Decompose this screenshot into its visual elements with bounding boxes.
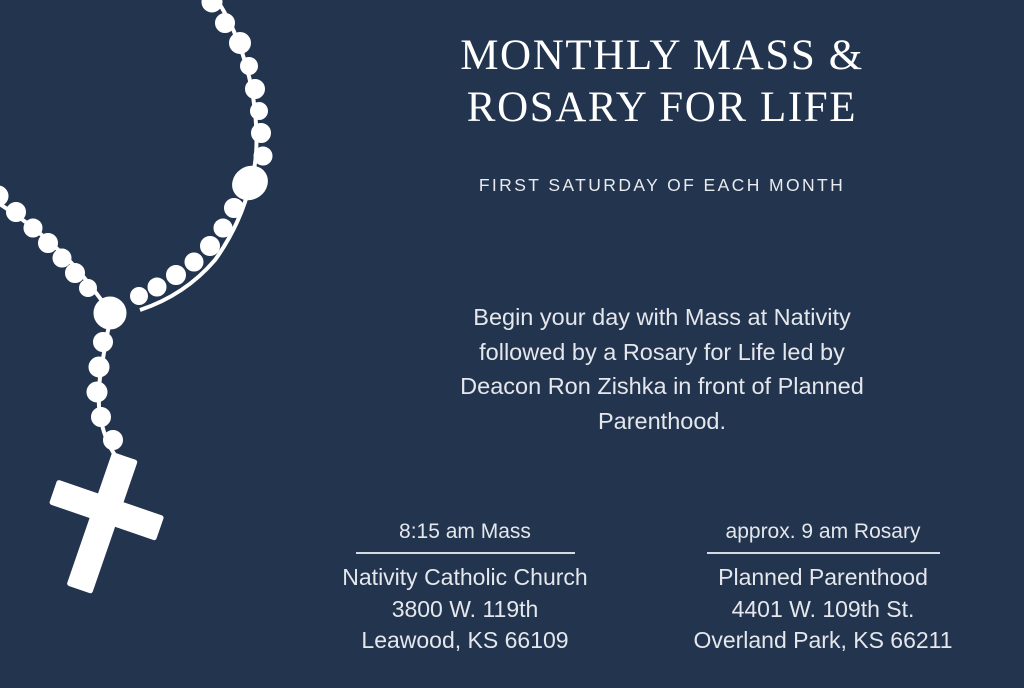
body-line: Begin your day with Mass at Nativity (362, 300, 962, 335)
rosary-bead (251, 103, 268, 120)
rosary-with-crucifix-graphic (0, 0, 330, 688)
rosary-details-column: approx. 9 am Rosary Planned Parenthood 4… (658, 518, 988, 657)
rosary-bead (254, 147, 272, 165)
crucifix-vertical-bar (67, 452, 137, 593)
mass-city-state-zip: Leawood, KS 66109 (300, 625, 630, 657)
rosary-beads-group (0, 0, 274, 607)
rosary-bead (53, 249, 71, 267)
mass-location: Nativity Catholic Church 3800 W. 119th L… (300, 562, 630, 657)
rosary-bead (216, 14, 235, 33)
page-title: MONTHLY MASS & ROSARY FOR LIFE (300, 30, 1024, 134)
rosary-divider (707, 552, 940, 554)
body-line: Parenthood. (362, 404, 962, 439)
flyer-content: MONTHLY MASS & ROSARY FOR LIFE FIRST SAT… (300, 0, 1024, 688)
rosary-street: 4401 W. 109th St. (658, 594, 988, 626)
body-line: Deacon Ron Zishka in front of Planned (362, 369, 962, 404)
rosary-bead (94, 333, 113, 352)
rosary-bead (80, 280, 97, 297)
rosary-location: Planned Parenthood 4401 W. 109th St. Ove… (658, 562, 988, 657)
mass-details-column: 8:15 am Mass Nativity Catholic Church 38… (300, 518, 630, 657)
event-details: 8:15 am Mass Nativity Catholic Church 38… (300, 518, 1024, 657)
rosary-city-state-zip: Overland Park, KS 66211 (658, 625, 988, 657)
rosary-bead (167, 266, 186, 285)
rosary-bead (39, 234, 58, 253)
rosary-bead (246, 80, 265, 99)
subtitle: FIRST SATURDAY OF EACH MONTH (300, 175, 1024, 196)
rosary-bead (24, 219, 42, 237)
rosary-bead (66, 264, 85, 283)
rosary-time: approx. 9 am Rosary (658, 518, 988, 545)
rosary-venue: Planned Parenthood (658, 562, 988, 594)
rosary-bead (185, 253, 203, 271)
body-line: followed by a Rosary for Life led by (362, 335, 962, 370)
rosary-cord-right (140, 0, 257, 310)
rosary-pendant-cord (99, 320, 120, 462)
rosary-cord-left (0, 198, 110, 312)
rosary-bead (104, 431, 123, 450)
rosary-center-bead (94, 297, 126, 329)
mass-divider (356, 552, 575, 554)
rosary-bead (202, 0, 222, 12)
rosary-bead (230, 33, 251, 54)
crucifix-horizontal-bar (50, 480, 164, 540)
rosary-bead (252, 124, 271, 143)
rosary-bead (0, 186, 8, 206)
rosary-bead (131, 288, 148, 305)
rosary-bead (214, 219, 232, 237)
rosary-bead (92, 408, 111, 427)
body-paragraph: Begin your day with Mass at Nativity fol… (362, 300, 962, 438)
rosary-bead (7, 203, 26, 222)
mass-time: 8:15 am Mass (300, 518, 630, 545)
title-line-2: ROSARY FOR LIFE (300, 82, 1024, 134)
mass-venue: Nativity Catholic Church (300, 562, 630, 594)
rosary-large-bead (226, 160, 274, 207)
title-line-1: MONTHLY MASS & (300, 30, 1024, 82)
mass-street: 3800 W. 119th (300, 594, 630, 626)
rosary-bead (87, 382, 107, 402)
rosary-bead (89, 357, 109, 377)
rosary-bead (201, 237, 220, 256)
rosary-bead (148, 278, 166, 296)
rosary-bead (241, 58, 258, 75)
crucifix-icon (26, 438, 177, 607)
event-flyer: MONTHLY MASS & ROSARY FOR LIFE FIRST SAT… (0, 0, 1024, 688)
rosary-bead (225, 199, 244, 218)
